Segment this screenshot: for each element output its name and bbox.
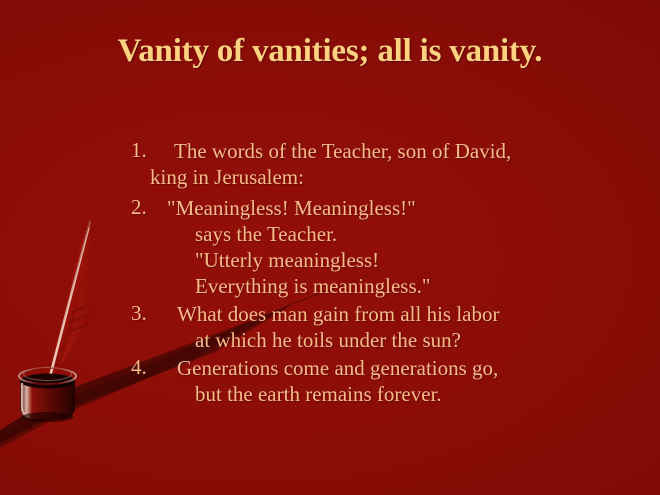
list-item: 1. The words of the Teacher, son of Davi… [0,138,660,190]
slide-title-text: Vanity of vanities; all is vanity [118,33,535,69]
list-item-line: "Utterly meaningless! [133,247,660,273]
list-item-line: What does man gain from all his labor [133,301,660,327]
content-list: 1. The words of the Teacher, son of Davi… [0,138,660,409]
list-item-line: The words of the Teacher, son of David, [133,138,660,164]
list-item-line: but the earth remains forever. [133,381,660,407]
list-item-number: 1. [131,138,165,163]
list-item-line: king in Jerusalem: [133,164,660,190]
slide-title-period: . [534,33,542,69]
list-item-text: The words of the Teacher, son of David, … [133,138,660,190]
list-item-text: "Meaningless! Meaningless!" says the Tea… [133,195,660,299]
list-item-text: What does man gain from all his labor at… [133,301,660,353]
list-item: 2. "Meaningless! Meaningless!" says the … [0,195,660,299]
list-item-line: says the Teacher. [133,221,660,247]
list-item-line: at which he toils under the sun? [133,327,660,353]
list-item-number: 2. [131,195,165,220]
list-item-number: 3. [131,301,165,326]
list-item-number: 4. [131,355,165,380]
list-item-line: Generations come and generations go, [133,355,660,381]
list-item: 3. What does man gain from all his labor… [0,301,660,353]
list-item-line: Everything is meaningless." [133,273,660,299]
slide-title: Vanity of vanities; all is vanity. [0,33,660,70]
list-item: 4. Generations come and generations go, … [0,355,660,407]
list-item-text: Generations come and generations go, but… [133,355,660,407]
list-item-line: "Meaningless! Meaningless!" [133,195,660,221]
slide: Vanity of vanities; all is vanity. 1. Th… [0,0,660,495]
